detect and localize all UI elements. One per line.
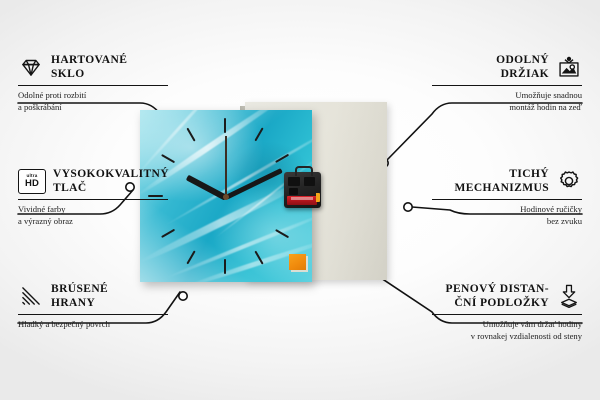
feature-tempered-glass: HARTOVANÉ SKLO Odolné proti rozbití a po… xyxy=(18,52,168,114)
divider xyxy=(18,199,168,200)
connector-dot-ground-edges xyxy=(179,292,187,300)
infographic-canvas: HARTOVANÉ SKLO Odolné proti rozbití a po… xyxy=(0,0,600,400)
movement-detail xyxy=(304,177,315,186)
movement-hanger-hook xyxy=(295,166,313,176)
divider xyxy=(18,314,168,315)
diamond-icon xyxy=(18,54,44,80)
divider xyxy=(18,85,168,86)
foam-spacer-pad xyxy=(289,254,306,270)
feature-description: Hodinové ručičky bez zvuku xyxy=(432,204,582,227)
badge-text-hd: HD xyxy=(25,179,39,189)
press-layers-icon xyxy=(556,283,582,309)
feature-description: Hladký a bezpečný povrch xyxy=(18,319,168,331)
feature-description: Odolné proti rozbití a poškrábání xyxy=(18,90,168,113)
movement-detail xyxy=(289,188,298,195)
battery xyxy=(287,196,317,205)
picture-hanger-icon xyxy=(556,54,582,80)
clock-center-cap xyxy=(223,194,229,200)
feature-title: HARTOVANÉ SKLO xyxy=(51,53,127,81)
hatched-edge-icon xyxy=(18,283,44,309)
feature-title: TICHÝ MECHANIZMUS xyxy=(455,167,550,195)
feature-title: BRÚSENÉ HRANY xyxy=(51,282,108,310)
clock-second-hand xyxy=(225,136,227,198)
divider xyxy=(432,199,582,200)
feature-title: ODOLNÝ DRŽIAK xyxy=(496,53,549,81)
feature-ground-edges: BRÚSENÉ HRANY Hladký a bezpečný povrch xyxy=(18,281,168,331)
feature-title: VYSOKOKVALITNÝ TLAČ xyxy=(53,167,169,195)
clock-movement xyxy=(284,172,321,208)
divider xyxy=(432,314,582,315)
movement-detail xyxy=(288,177,300,186)
feature-durable-holder: ODOLNÝ DRŽIAK Umožňuje snadnou montáž ho… xyxy=(432,52,582,114)
product-photo xyxy=(140,100,450,290)
battery-terminal xyxy=(316,193,320,202)
feature-foam-spacers: PENOVÝ DISTAN- ČNÍ PODLOŽKY Umožňuje vám… xyxy=(432,281,582,343)
gear-icon xyxy=(556,168,582,194)
feature-description: Umožňuje snadnou montáž hodin na zeď xyxy=(432,90,582,113)
divider xyxy=(432,85,582,86)
ultra-hd-badge-icon: ultra HD xyxy=(18,169,46,194)
feature-high-quality-print: ultra HD VYSOKOKVALITNÝ TLAČ Vividné far… xyxy=(18,166,168,228)
battery-label xyxy=(291,197,313,200)
feature-silent-mechanism: TICHÝ MECHANIZMUS Hodinové ručičky bez z… xyxy=(432,166,582,228)
feature-description: Umožňuje vám držať hodiny v rovnakej vzd… xyxy=(432,319,582,342)
feature-title: PENOVÝ DISTAN- ČNÍ PODLOŽKY xyxy=(446,282,549,310)
feature-description: Vividné farby a výrazný obraz xyxy=(18,204,168,227)
